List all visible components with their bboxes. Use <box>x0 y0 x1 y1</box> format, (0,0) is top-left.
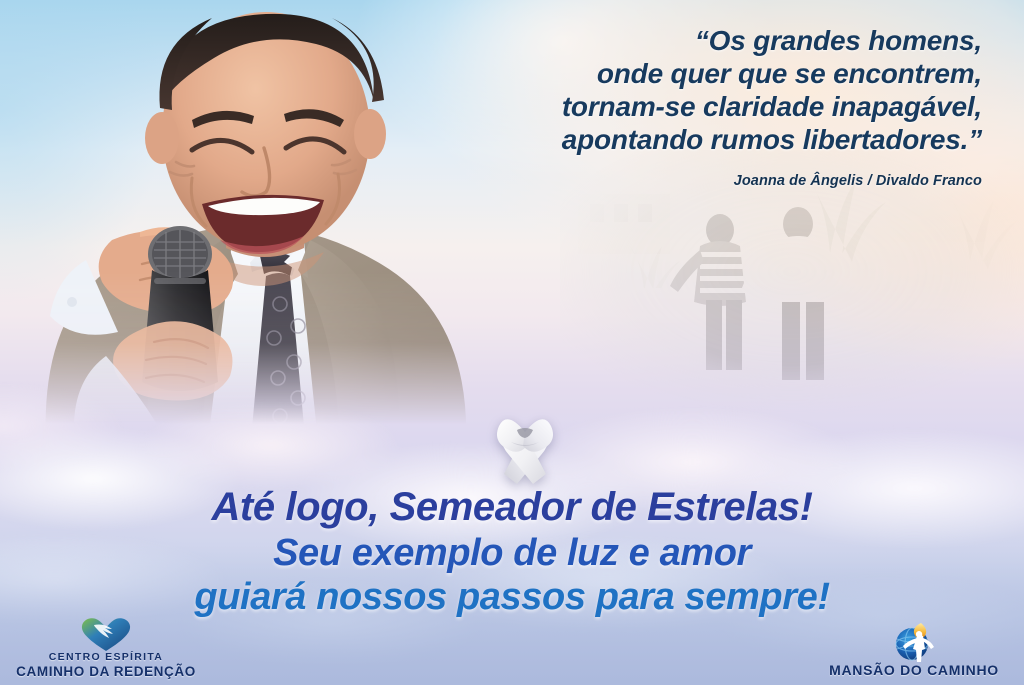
logo-right-line-2: MANSÃO DO CAMINHO <box>829 663 999 679</box>
logo-centro-espirita-text: CENTRO ESPÍRITA CAMINHO DA REDENÇÃO <box>16 652 196 679</box>
hands-heart-logo-icon <box>80 616 132 652</box>
quote-attribution: Joanna de Ângelis / Divaldo Franco <box>382 173 982 189</box>
quote-block: “Os grandes homens, onde quer que se enc… <box>382 24 982 189</box>
headline-line-2: Seu exemplo de luz e amor <box>0 534 1024 572</box>
memorial-poster: “Os grandes homens, onde quer que se enc… <box>0 0 1024 685</box>
quote-line-4: apontando rumos libertadores.” <box>382 123 982 156</box>
quote-line-2: onde quer que se encontrem, <box>382 57 982 90</box>
quote-line-3: tornam-se claridade inapagável, <box>382 90 982 123</box>
white-mourning-ribbon-icon <box>487 408 563 486</box>
logo-centro-espirita[interactable]: CENTRO ESPÍRITA CAMINHO DA REDENÇÃO <box>8 616 204 679</box>
headline-line-3: guiará nossos passos para sempre! <box>0 578 1024 616</box>
logo-left-line-1: CENTRO ESPÍRITA <box>16 652 196 664</box>
headline-line-1: Até logo, Semeador de Estrelas! <box>0 487 1024 527</box>
logo-mansao-do-caminho[interactable]: MANSÃO DO CAMINHO <box>814 619 1014 679</box>
quote-line-1: “Os grandes homens, <box>382 24 982 57</box>
logo-left-line-2: CAMINHO DA REDENÇÃO <box>16 664 196 679</box>
headline-block: Até logo, Semeador de Estrelas! Seu exem… <box>0 487 1024 616</box>
globe-figure-logo-icon <box>891 619 937 663</box>
logo-mansao-do-caminho-text: MANSÃO DO CAMINHO <box>829 663 999 679</box>
